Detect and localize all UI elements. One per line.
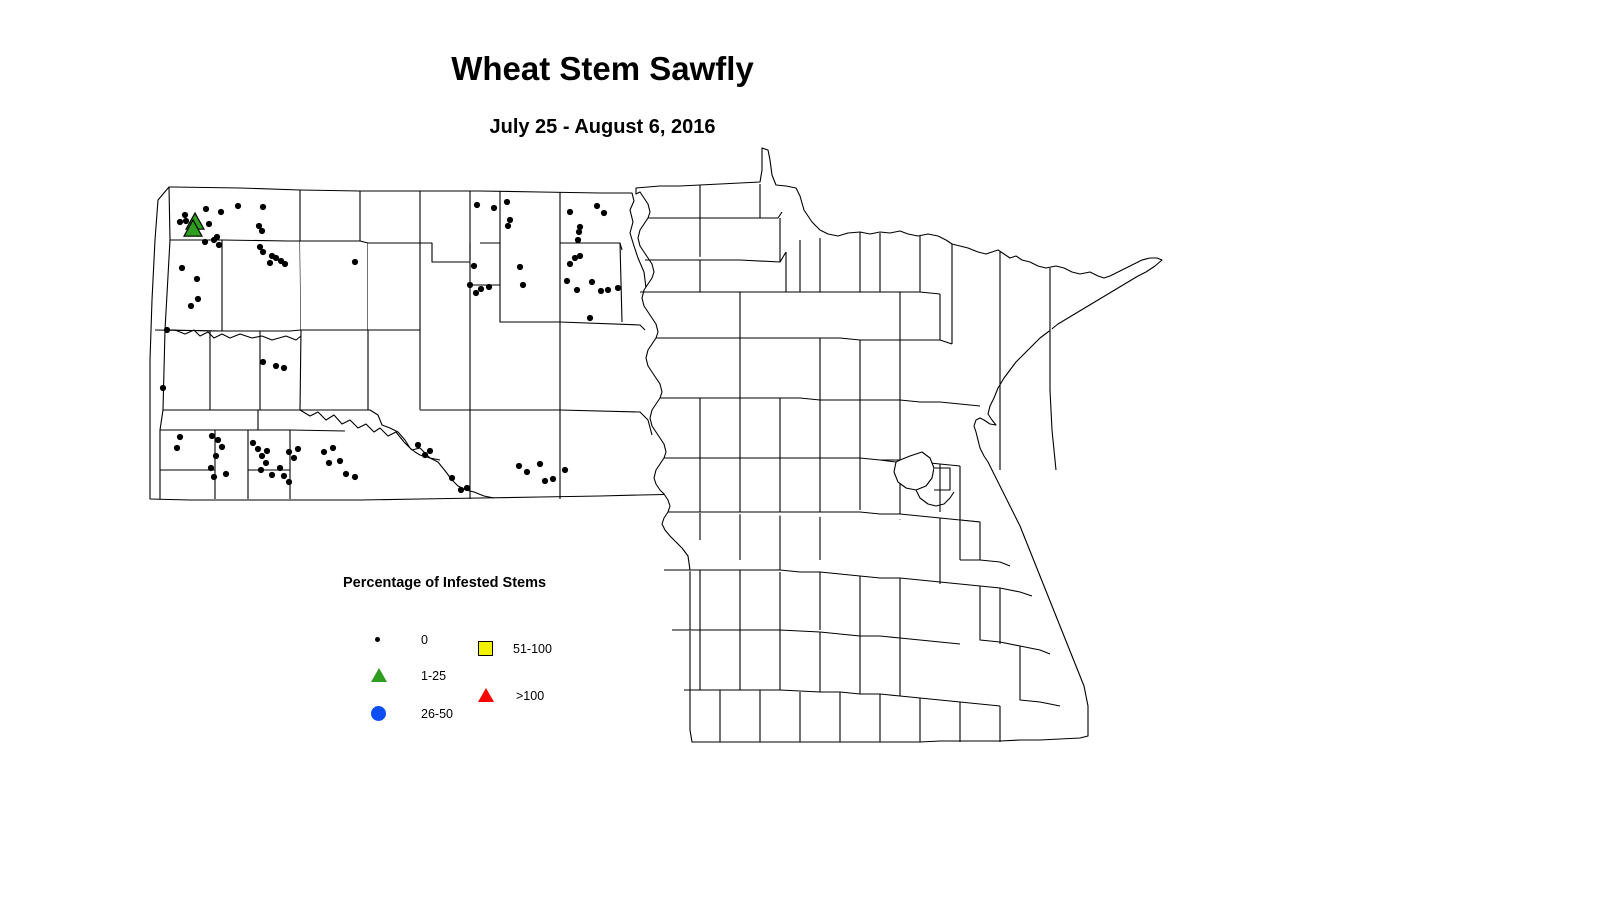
map-marker-0 (516, 463, 522, 469)
map-marker-0 (352, 474, 358, 480)
map-marker-0 (567, 261, 573, 267)
map-marker-0 (474, 202, 480, 208)
map-marker-0 (218, 209, 224, 215)
map-page: Wheat Stem Sawfly July 25 - August 6, 20… (0, 0, 1612, 900)
map-marker-0 (273, 363, 279, 369)
map-marker-0 (321, 449, 327, 455)
small-black-dot-icon (375, 637, 380, 642)
map-marker-0 (208, 465, 214, 471)
map-marker-0 (449, 475, 455, 481)
map-marker-0 (415, 442, 421, 448)
map-marker-0 (264, 448, 270, 454)
map-marker-0 (352, 259, 358, 265)
map-marker-0 (160, 385, 166, 391)
map-marker-0 (177, 219, 183, 225)
map-canvas (0, 0, 1612, 900)
map-marker-0 (576, 229, 582, 235)
map-marker-0 (575, 237, 581, 243)
map-marker-0 (524, 469, 530, 475)
map-marker-0 (291, 455, 297, 461)
map-marker-0 (209, 433, 215, 439)
map-marker-0 (422, 452, 428, 458)
map-marker-0 (177, 434, 183, 440)
legend-label-1-25: 1-25 (421, 665, 446, 687)
map-marker-0 (269, 472, 275, 478)
legend-label-51-100: 51-100 (513, 638, 552, 660)
map-marker-0 (562, 467, 568, 473)
map-marker-0 (164, 327, 170, 333)
legend-label-gt100: >100 (516, 685, 544, 707)
map-marker-0 (505, 223, 511, 229)
legend-label-26-50: 26-50 (421, 703, 453, 725)
map-marker-0 (281, 365, 287, 371)
map-marker-0 (589, 279, 595, 285)
map-marker-0 (235, 203, 241, 209)
green-triangle-icon (371, 668, 387, 682)
map-marker-0 (594, 203, 600, 209)
legend: Percentage of Infested Stems 0 1-25 26-5… (343, 575, 603, 735)
map-marker-0 (213, 453, 219, 459)
map-marker-0 (195, 296, 201, 302)
map-marker-0 (214, 234, 220, 240)
map-marker-0 (587, 315, 593, 321)
map-marker-0 (577, 253, 583, 259)
map-marker-0 (598, 288, 604, 294)
map-marker-0 (260, 204, 266, 210)
legend-title: Percentage of Infested Stems (343, 575, 546, 591)
map-marker-0 (263, 460, 269, 466)
map-graphic (0, 0, 1612, 900)
map-marker-0 (194, 276, 200, 282)
map-marker-0 (504, 199, 510, 205)
map-marker-0 (183, 218, 189, 224)
map-marker-0 (326, 460, 332, 466)
map-marker-0 (259, 228, 265, 234)
map-marker-0 (206, 221, 212, 227)
map-marker-0 (537, 461, 543, 467)
map-marker-0 (542, 478, 548, 484)
map-marker-0 (517, 264, 523, 270)
map-marker-0 (286, 449, 292, 455)
legend-label-0: 0 (421, 629, 428, 651)
map-marker-0 (282, 261, 288, 267)
map-marker-0 (174, 445, 180, 451)
red-triangle-icon (478, 688, 494, 702)
map-marker-0 (250, 440, 256, 446)
map-marker-0 (458, 487, 464, 493)
map-marker-0 (343, 471, 349, 477)
map-marker-0 (260, 249, 266, 255)
map-marker-0 (478, 286, 484, 292)
map-marker-0 (574, 287, 580, 293)
map-marker-0 (467, 282, 473, 288)
map-marker-0 (215, 437, 221, 443)
map-marker-0 (564, 278, 570, 284)
map-marker-0 (259, 453, 265, 459)
map-marker-0 (427, 448, 433, 454)
map-marker-0 (216, 242, 222, 248)
map-marker-0 (491, 205, 497, 211)
map-marker-0 (179, 265, 185, 271)
map-marker-0 (601, 210, 607, 216)
map-marker-0 (295, 446, 301, 452)
blue-circle-icon (371, 706, 386, 721)
map-marker-0 (567, 209, 573, 215)
map-marker-0 (615, 285, 621, 291)
map-marker-0 (471, 263, 477, 269)
map-marker-0 (507, 217, 513, 223)
map-marker-0 (520, 282, 526, 288)
map-marker-0 (223, 471, 229, 477)
map-marker-0 (281, 473, 287, 479)
map-marker-0 (464, 485, 470, 491)
map-marker-0 (605, 287, 611, 293)
map-marker-0 (260, 359, 266, 365)
map-marker-0 (203, 206, 209, 212)
map-marker-0 (188, 303, 194, 309)
map-marker-0 (286, 479, 292, 485)
yellow-square-icon (478, 641, 493, 656)
map-marker-0 (486, 284, 492, 290)
map-marker-0 (182, 212, 188, 218)
map-marker-0 (202, 239, 208, 245)
map-marker-0 (337, 458, 343, 464)
minnesota-counties (636, 148, 1162, 742)
map-marker-0 (219, 444, 225, 450)
map-marker-0 (255, 446, 261, 452)
map-marker-0 (277, 465, 283, 471)
map-marker-0 (330, 445, 336, 451)
map-marker-0 (267, 260, 273, 266)
map-marker-0 (211, 474, 217, 480)
map-marker-0 (473, 290, 479, 296)
map-marker-0 (550, 476, 556, 482)
map-marker-0 (258, 467, 264, 473)
